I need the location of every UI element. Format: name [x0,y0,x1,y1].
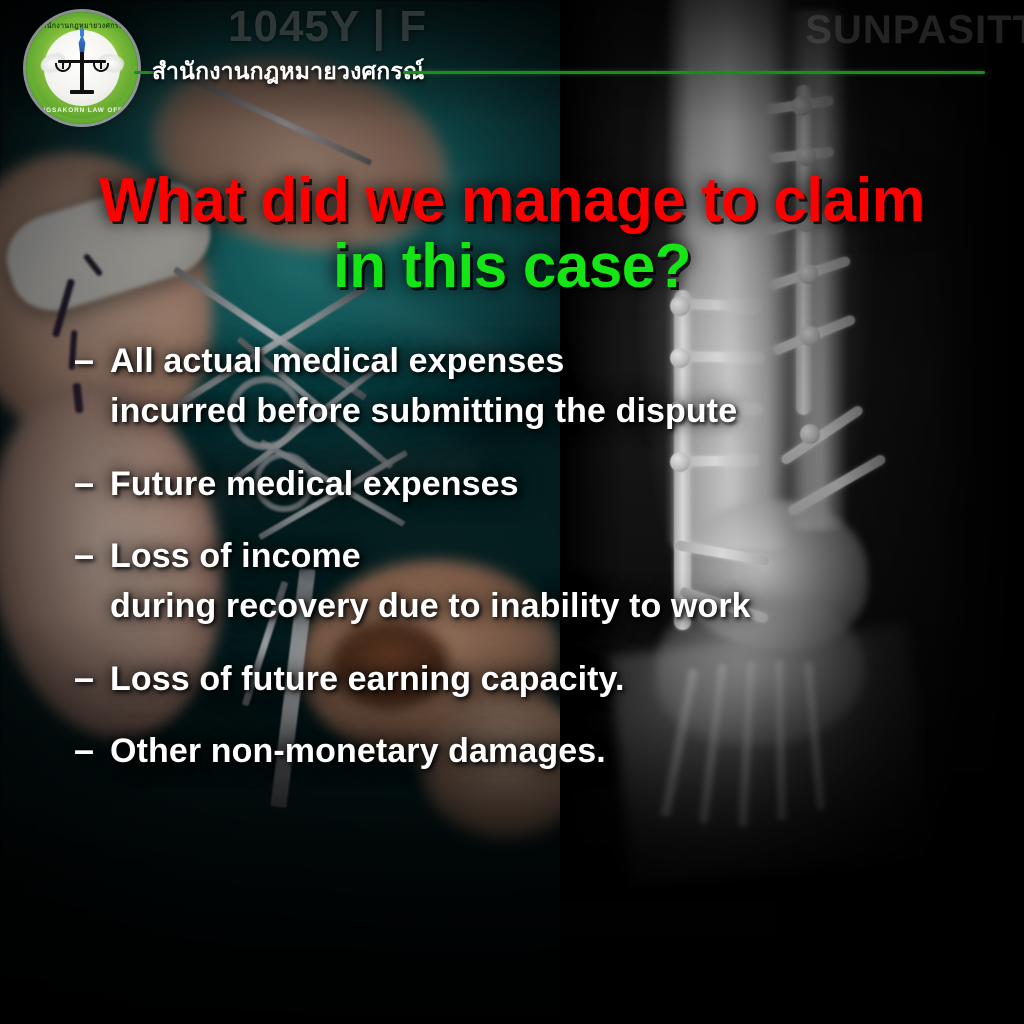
poster-canvas: 1045Y | F SUNPASITT สำนักงานกฎหมายวงศกรณ… [0,0,1024,1024]
bullet-dash-icon: – [74,660,94,696]
claim-line-1: Loss of future earning capacity. [110,660,625,698]
law-office-logo[interactable]: สำนักงานกฎหมายวงศกรณ์ WONGSAKORN LAW OFF… [26,12,138,124]
claim-line-1: Future medical expenses [110,465,519,503]
claim-text: All actual medical expenses incurred bef… [110,336,737,437]
claim-text: Future medical expenses [110,459,519,509]
logo-english-arc-text: WONGSAKORN LAW OFFICE [26,107,138,114]
list-item: – All actual medical expenses incurred b… [74,336,964,437]
list-item: – Loss of income during recovery due to … [74,531,964,632]
headline-line-2: in this case? [15,234,1008,300]
claim-line-1: All actual medical expenses [110,342,564,380]
headline-line-1: What did we manage to claim [15,168,1008,234]
list-item: – Other non-monetary damages. [74,726,964,776]
bullet-dash-icon: – [74,537,94,573]
list-item: – Loss of future earning capacity. [74,654,964,704]
claim-line-1: Loss of income [110,537,361,575]
bullet-dash-icon: – [74,465,94,501]
brand-divider-line [403,71,985,74]
scales-of-justice-icon [80,52,84,92]
screw-head [796,146,816,166]
bullet-dash-icon: – [74,732,94,768]
claim-text: Loss of future earning capacity. [110,654,625,704]
page-title: What did we manage to claim in this case… [15,168,1008,301]
claim-text: Loss of income during recovery due to in… [110,531,751,632]
list-item: – Future medical expenses [74,459,964,509]
claim-line-2: during recovery due to inability to work [110,581,751,631]
brand-header: สำนักงานกฎหมายวงศกรณ์ WONGSAKORN LAW OFF… [0,0,1024,132]
brand-name-thai: สำนักงานกฎหมายวงศกรณ์ [152,54,425,90]
claim-text: Other non-monetary damages. [110,726,606,776]
claim-line-1: Other non-monetary damages. [110,732,606,770]
scales-of-justice-icon [70,90,94,94]
claim-line-2: incurred before submitting the dispute [110,386,737,436]
claims-list: – All actual medical expenses incurred b… [74,336,964,798]
bullet-dash-icon: – [74,342,94,378]
